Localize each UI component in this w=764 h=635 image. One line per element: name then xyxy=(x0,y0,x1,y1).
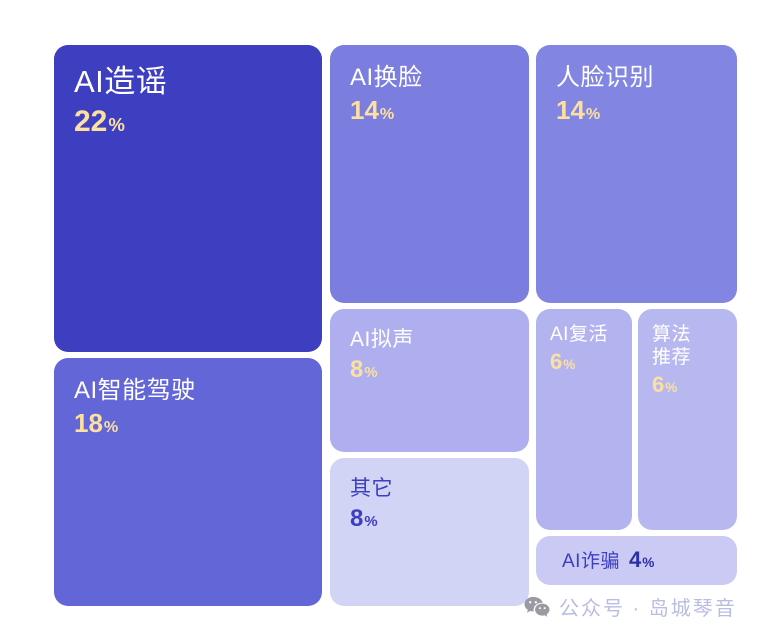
tile-label: AI造谣 xyxy=(74,63,302,101)
tile-value-number: 8 xyxy=(350,505,363,532)
treemap-tile-ai-fraud[interactable]: AI诈骗 4% xyxy=(536,536,737,585)
tile-value: 6% xyxy=(550,350,618,374)
tile-value: 4% xyxy=(629,548,654,572)
tile-label: 算法 推荐 xyxy=(652,323,723,369)
treemap-tile-algorithmic-recommendation[interactable]: 算法 推荐 6% xyxy=(638,309,737,530)
percent-sign: % xyxy=(364,365,377,381)
tile-value-number: 6 xyxy=(652,372,664,397)
tile-value-number: 4 xyxy=(629,547,641,572)
tile-label: AI换脸 xyxy=(350,63,509,92)
tile-value-number: 14 xyxy=(556,95,585,125)
percent-sign: % xyxy=(563,357,575,372)
tile-value-number: 18 xyxy=(74,408,103,438)
treemap-tile-ai-rumor[interactable]: AI造谣 22% xyxy=(54,45,322,352)
tile-value: 8% xyxy=(350,506,509,532)
treemap-tile-ai-autonomous-driving[interactable]: AI智能驾驶 18% xyxy=(54,358,322,606)
percent-sign: % xyxy=(104,418,118,436)
percent-sign: % xyxy=(586,105,600,123)
treemap-tile-other[interactable]: 其它 8% xyxy=(330,458,529,606)
percent-sign: % xyxy=(380,105,394,123)
treemap-tile-face-recognition[interactable]: 人脸识别 14% xyxy=(536,45,737,303)
tile-value: 6% xyxy=(652,373,723,397)
percent-sign: % xyxy=(108,114,125,135)
treemap-tile-ai-voice-clone[interactable]: AI拟声 8% xyxy=(330,309,529,452)
percent-sign: % xyxy=(364,514,377,530)
tile-inline-content: AI诈骗 4% xyxy=(556,548,654,573)
tile-label: AI拟声 xyxy=(350,327,509,353)
tile-value-number: 6 xyxy=(550,349,562,374)
tile-label: 其它 xyxy=(350,476,509,502)
tile-value: 8% xyxy=(350,357,509,383)
tile-value: 14% xyxy=(556,96,717,125)
tile-value-number: 22 xyxy=(74,105,107,138)
treemap-tile-ai-resurrection[interactable]: AI复活 6% xyxy=(536,309,632,530)
percent-sign: % xyxy=(665,380,677,395)
tile-value: 22% xyxy=(74,105,302,138)
tile-label: AI复活 xyxy=(550,323,618,346)
tile-value-number: 14 xyxy=(350,95,379,125)
tile-value-number: 8 xyxy=(350,356,363,383)
tile-value: 18% xyxy=(74,409,302,438)
tile-label: AI诈骗 xyxy=(562,550,620,573)
tile-value: 14% xyxy=(350,96,509,125)
percent-sign: % xyxy=(642,555,654,570)
tile-label: 人脸识别 xyxy=(556,63,717,92)
tile-label: AI智能驾驶 xyxy=(74,376,302,405)
treemap-chart: AI造谣 22% AI智能驾驶 18% AI换脸 14% AI拟声 8% 其它 … xyxy=(0,0,764,635)
treemap-tile-ai-face-swap[interactable]: AI换脸 14% xyxy=(330,45,529,303)
